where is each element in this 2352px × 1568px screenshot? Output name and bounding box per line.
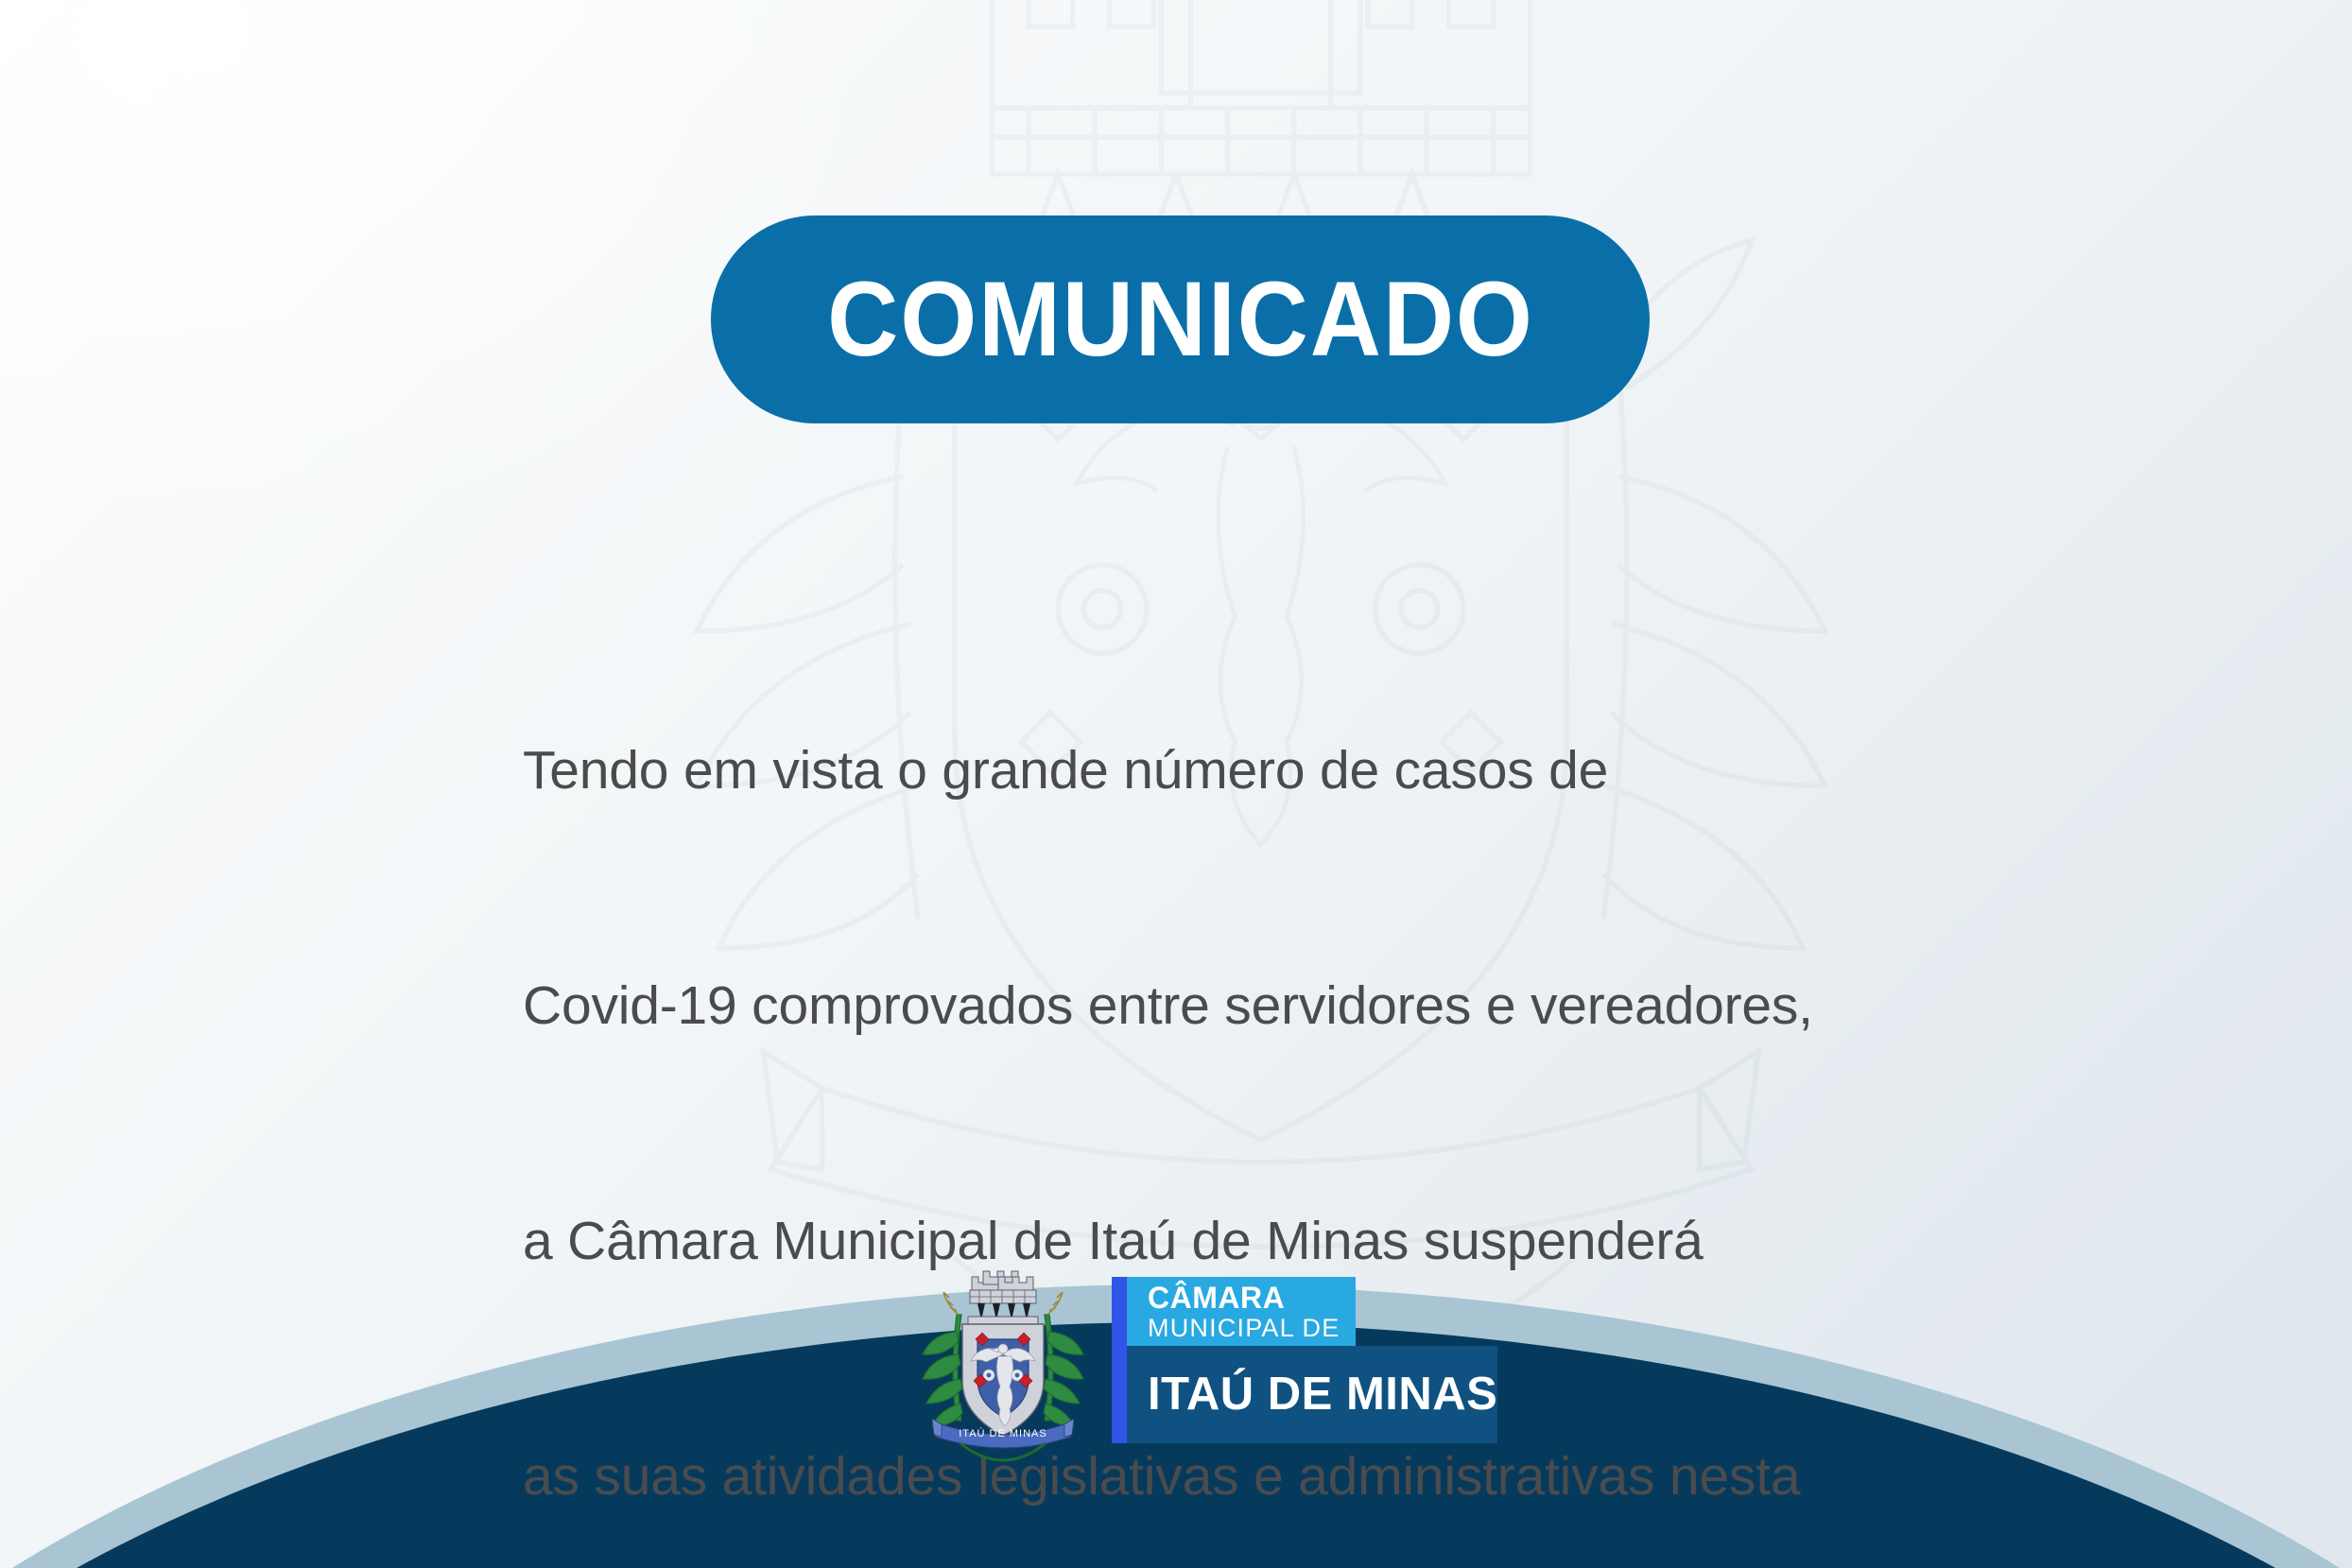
logo-line-itau: ITAÚ DE MINAS bbox=[1148, 1371, 1497, 1418]
footer-logo-lockup: ITAÚ DE MINAS CÂMARA MUNICIPAL DE ITAÚ D… bbox=[915, 1264, 1499, 1466]
logo-line-municipal: MUNICIPAL DE bbox=[1148, 1314, 1356, 1342]
poster-canvas: COMUNICADO Tendo em vista o grande númer… bbox=[0, 0, 2352, 1568]
logo-accent-bar bbox=[1112, 1277, 1127, 1443]
logo-line-camara: CÂMARA bbox=[1148, 1283, 1356, 1314]
coat-of-arms-icon: ITAÚ DE MINAS bbox=[915, 1264, 1091, 1466]
headline-badge: COMUNICADO bbox=[711, 215, 1650, 423]
logo-wordmark: CÂMARA MUNICIPAL DE ITAÚ DE MINAS bbox=[1112, 1277, 1499, 1456]
body-line-2: Covid-19 comprovados entre servidores e … bbox=[523, 967, 1941, 1045]
body-line-1: Tendo em vista o grande número de casos … bbox=[523, 732, 1941, 810]
headline-text: COMUNICADO bbox=[827, 267, 1534, 372]
logo-band-itau: ITAÚ DE MINAS bbox=[1127, 1346, 1497, 1443]
logo-band-camara: CÂMARA MUNICIPAL DE bbox=[1127, 1277, 1356, 1346]
crest-ribbon-text: ITAÚ DE MINAS bbox=[959, 1427, 1046, 1439]
